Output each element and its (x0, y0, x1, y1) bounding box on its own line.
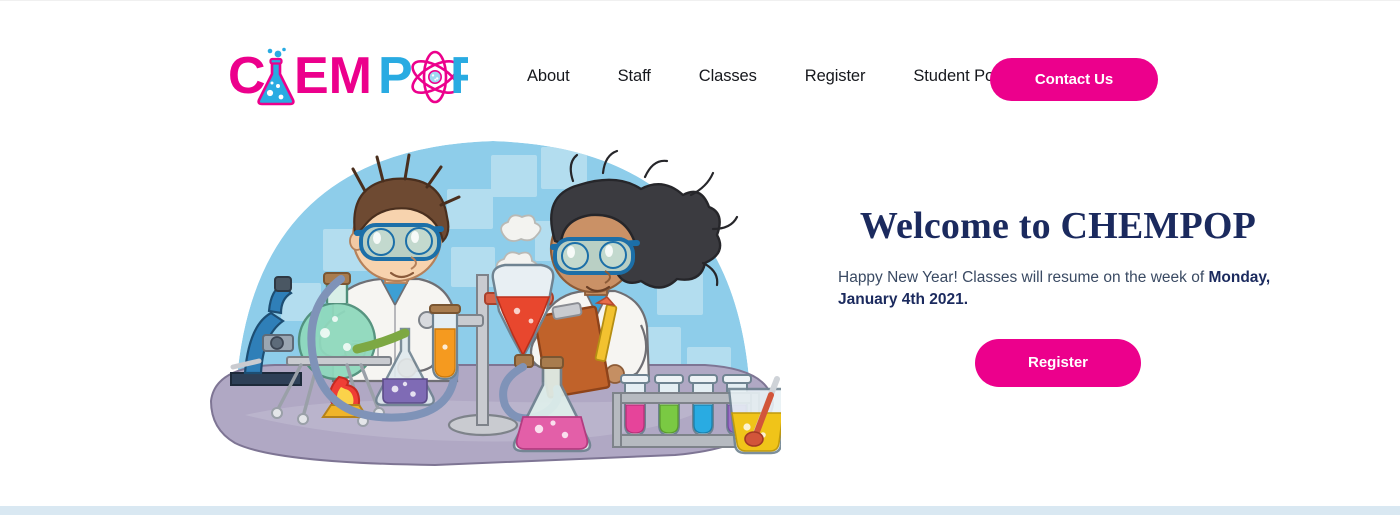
site-logo[interactable]: C (228, 47, 468, 109)
svg-text:P: P (450, 47, 468, 105)
girl-goggles (553, 239, 637, 273)
register-button[interactable]: Register (975, 339, 1141, 387)
svg-text:EM: EM (294, 47, 372, 105)
boy-goggles (357, 225, 441, 259)
hero-title: Welcome to CHEMPOP (838, 205, 1278, 249)
nav-item-register[interactable]: Register (805, 67, 866, 86)
main-navigation: About Staff Classes Register Student Por… (527, 67, 1017, 86)
logo-letters-em: EM (294, 47, 372, 105)
nav-item-about[interactable]: About (527, 67, 570, 86)
page-root: C (0, 0, 1400, 515)
nav-item-staff[interactable]: Staff (618, 67, 651, 86)
hero-paragraph: Happy New Year! Classes will resume on t… (838, 267, 1278, 311)
hero-copy: Welcome to CHEMPOP Happy New Year! Class… (838, 205, 1278, 387)
test-tube-orange (430, 305, 460, 379)
logo-letter-p2: P (450, 47, 468, 105)
beaker-yellow (729, 379, 781, 453)
logo-letter-p1: P (378, 47, 413, 105)
hero-illustration (205, 129, 781, 469)
nav-item-classes[interactable]: Classes (699, 67, 757, 86)
svg-text:P: P (378, 47, 413, 105)
hero-paragraph-lead: Happy New Year! Classes will resume on t… (838, 269, 1208, 286)
contact-us-button[interactable]: Contact Us (990, 58, 1158, 101)
site-header: C (0, 1, 1400, 129)
footer-accent-strip (0, 506, 1400, 515)
register-button-wrapper: Register (838, 339, 1278, 387)
hero-section: Welcome to CHEMPOP Happy New Year! Class… (0, 129, 1400, 508)
